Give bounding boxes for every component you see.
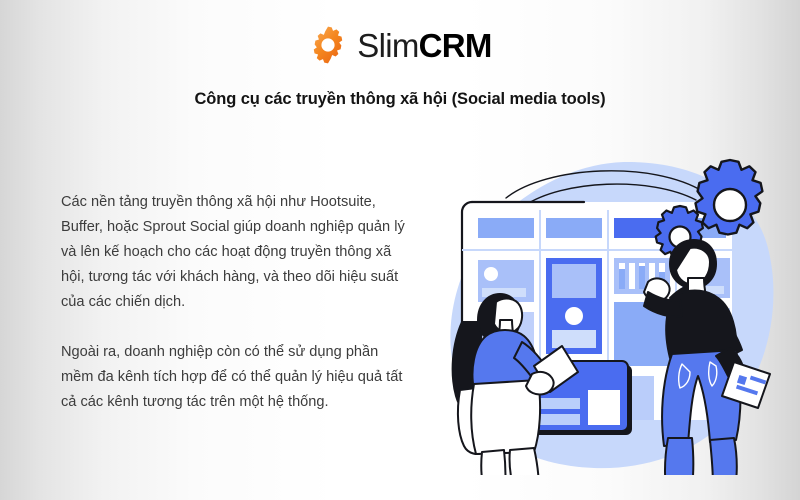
paragraph-2: Ngoài ra, doanh nghiệp còn có thể sử dụn…	[61, 340, 411, 415]
gear-icon	[308, 25, 348, 65]
gear-large	[696, 160, 763, 235]
brand-name-light: Slim	[357, 29, 418, 62]
brand-name-bold: CRM	[419, 29, 492, 62]
brand-logo[interactable]: SlimCRM	[0, 21, 800, 69]
paragraph-1: Các nền tảng truyền thông xã hội như Hoo…	[61, 190, 411, 315]
page-title: Công cụ các truyền thông xã hội (Social …	[0, 90, 800, 109]
brand-wordmark: SlimCRM	[357, 29, 491, 62]
board-column-2	[546, 218, 602, 238]
social-media-teamwork-illustration	[438, 150, 786, 475]
page-root: SlimCRM Công cụ các truyền thông xã hội …	[0, 0, 800, 500]
board-column-1	[478, 218, 534, 238]
body-copy: Các nền tảng truyền thông xã hội như Hoo…	[61, 190, 411, 415]
